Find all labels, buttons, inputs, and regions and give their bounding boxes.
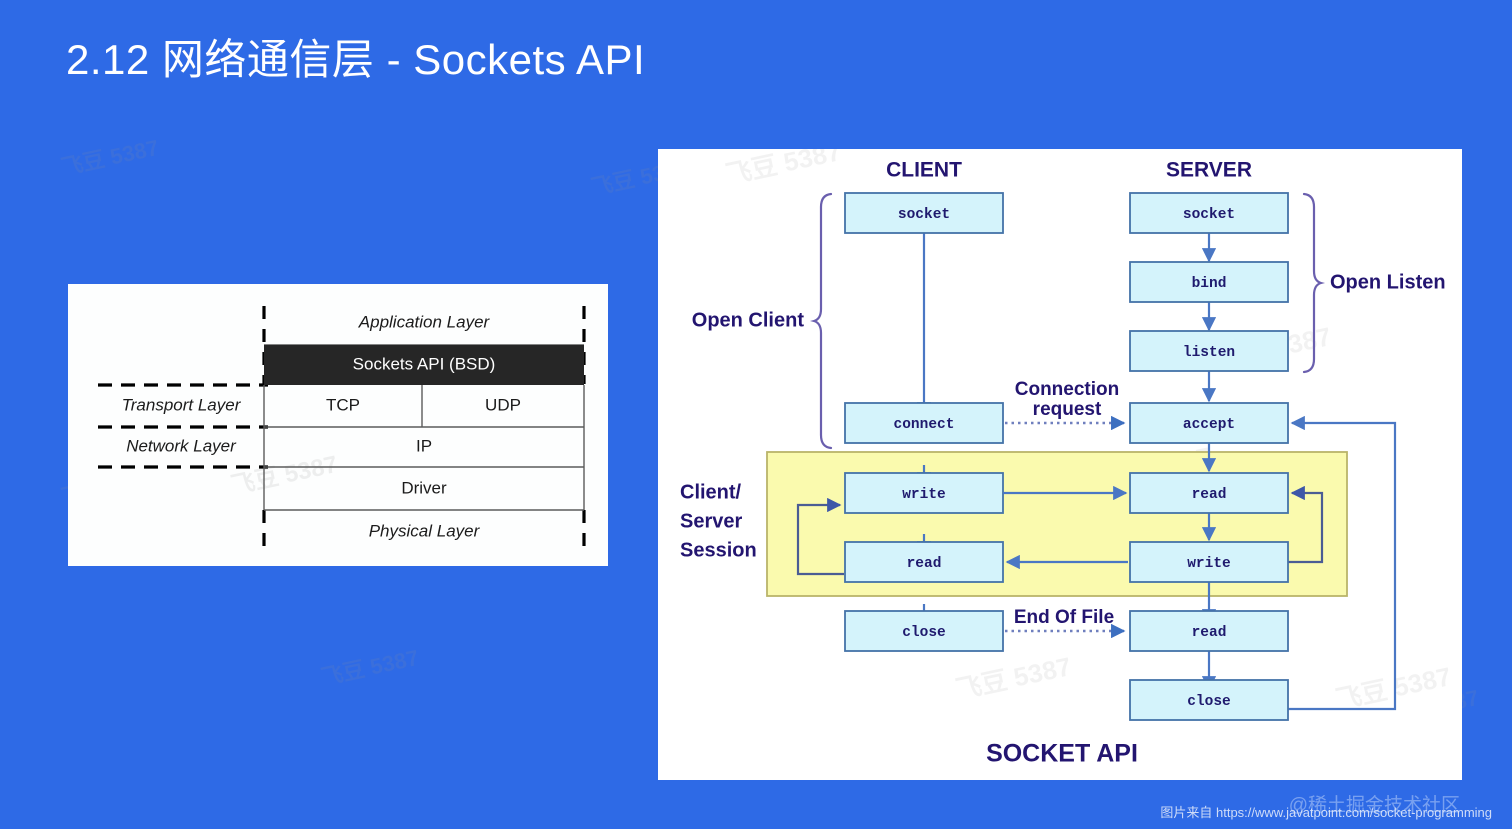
end-of-file-label: End Of File bbox=[1014, 607, 1114, 628]
watermark-tile: 飞豆 5387 bbox=[1333, 661, 1454, 715]
watermark-tile: 飞豆 5387 bbox=[953, 651, 1074, 705]
socket-flow-panel: 飞豆 5387 飞豆 5387 飞豆 5387 飞豆 5387 飞豆 5387 … bbox=[658, 149, 1462, 780]
label-network-layer: Network Layer bbox=[126, 436, 237, 455]
label-ip: IP bbox=[416, 436, 432, 455]
watermark-community: @稀土掘金技术社区 bbox=[1289, 790, 1460, 817]
client-box-read[interactable]: read bbox=[845, 542, 1003, 582]
server-box-close-label: close bbox=[1187, 694, 1231, 710]
server-box-read-2[interactable]: read bbox=[1130, 611, 1288, 651]
client-column-header: CLIENT bbox=[886, 159, 962, 182]
label-udp: UDP bbox=[485, 395, 521, 414]
server-box-listen-label: listen bbox=[1183, 345, 1235, 361]
client-box-write[interactable]: write bbox=[845, 473, 1003, 513]
server-box-write[interactable]: write bbox=[1130, 542, 1288, 582]
server-box-read-2-label: read bbox=[1192, 625, 1227, 641]
socket-api-footer-title: SOCKET API bbox=[986, 740, 1138, 768]
client-box-close[interactable]: close bbox=[845, 611, 1003, 651]
label-application-layer: Application Layer bbox=[358, 312, 491, 331]
open-listen-label: Open Listen bbox=[1330, 271, 1446, 293]
label-driver: Driver bbox=[401, 478, 447, 497]
server-column-header: SERVER bbox=[1166, 159, 1252, 182]
watermark-tile: 飞豆 5387 bbox=[318, 640, 422, 692]
label-transport-layer: Transport Layer bbox=[122, 395, 242, 414]
server-box-socket-label: socket bbox=[1183, 207, 1235, 223]
server-box-write-label: write bbox=[1187, 556, 1231, 572]
server-box-socket[interactable]: socket bbox=[1130, 193, 1288, 233]
watermark-tile: 飞豆 5387 bbox=[723, 149, 844, 190]
label-tcp: TCP bbox=[326, 395, 360, 414]
server-box-listen[interactable]: listen bbox=[1130, 331, 1288, 371]
open-client-brace bbox=[814, 194, 831, 448]
label-physical-layer: Physical Layer bbox=[369, 521, 481, 540]
client-box-socket-label: socket bbox=[898, 207, 950, 223]
server-box-read-label: read bbox=[1192, 487, 1227, 503]
server-box-bind[interactable]: bind bbox=[1130, 262, 1288, 302]
session-label-line2: Server bbox=[680, 510, 742, 532]
session-label-line1: Client/ bbox=[680, 481, 742, 503]
server-box-accept-label: accept bbox=[1183, 417, 1235, 433]
connection-request-label-line1: Connection bbox=[1015, 379, 1120, 400]
server-box-bind-label: bind bbox=[1192, 276, 1227, 292]
socket-flow-diagram: 飞豆 5387 飞豆 5387 飞豆 5387 飞豆 5387 飞豆 5387 … bbox=[658, 149, 1462, 780]
client-box-socket[interactable]: socket bbox=[845, 193, 1003, 233]
session-label-line3: Session bbox=[680, 539, 757, 561]
connection-request-label-line2: request bbox=[1033, 399, 1102, 420]
open-client-label: Open Client bbox=[692, 309, 805, 331]
server-box-accept[interactable]: accept bbox=[1130, 403, 1288, 443]
client-box-close-label: close bbox=[902, 625, 946, 641]
layer-stack-diagram: 飞豆 5387 Transport Layer Network Layer Ap… bbox=[68, 284, 608, 566]
client-box-write-label: write bbox=[902, 487, 946, 503]
client-box-connect[interactable]: connect bbox=[845, 403, 1003, 443]
watermark-tile: 飞豆 5387 bbox=[229, 451, 340, 500]
client-box-read-label: read bbox=[907, 556, 942, 572]
label-sockets-api: Sockets API (BSD) bbox=[353, 354, 496, 373]
page-title: 2.12 网络通信层 - Sockets API bbox=[66, 26, 645, 87]
watermark-tile: 飞豆 5387 bbox=[58, 130, 162, 182]
client-box-connect-label: connect bbox=[894, 417, 955, 433]
server-box-close[interactable]: close bbox=[1130, 680, 1288, 720]
layer-stack-panel: 飞豆 5387 Transport Layer Network Layer Ap… bbox=[68, 284, 608, 566]
server-box-read[interactable]: read bbox=[1130, 473, 1288, 513]
